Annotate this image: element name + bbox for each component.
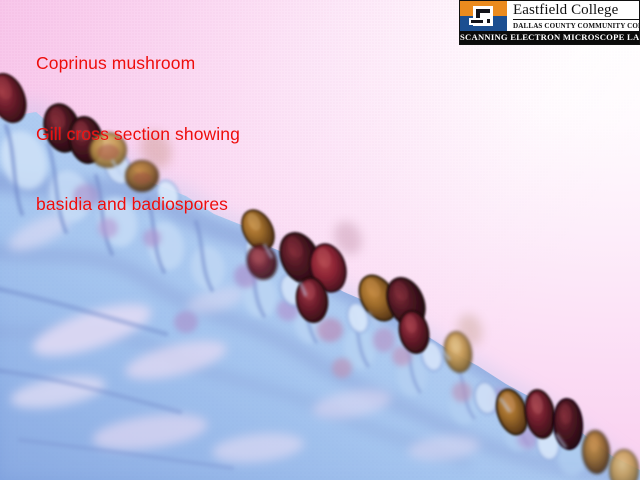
slide-canvas: Coprinus mushroom Gill cross section sho… bbox=[0, 0, 640, 480]
logo-lab-banner: SCANNING ELECTRON MICROSCOPE LAB bbox=[460, 31, 639, 44]
caption-line-3: basidia and badiospores bbox=[36, 193, 240, 217]
logo-top-row: Eastfield College DALLAS COUNTY COMMUNIT… bbox=[460, 1, 639, 31]
eastfield-e-mark-icon bbox=[460, 1, 507, 31]
slide-caption: Coprinus mushroom Gill cross section sho… bbox=[36, 5, 240, 264]
logo-divider bbox=[513, 19, 640, 20]
e-glyph-bar-icon bbox=[469, 18, 487, 25]
logo-institution-name: Eastfield College bbox=[513, 2, 640, 19]
logo-district-name: DALLAS COUNTY COMMUNITY COLLEGE DISTRICT bbox=[513, 22, 640, 31]
logo-wordmark: Eastfield College DALLAS COUNTY COMMUNIT… bbox=[507, 1, 640, 31]
caption-line-1: Coprinus mushroom bbox=[36, 52, 240, 76]
caption-line-2: Gill cross section showing bbox=[36, 123, 240, 147]
basidiospore bbox=[610, 450, 638, 480]
eastfield-college-logo: Eastfield College DALLAS COUNTY COMMUNIT… bbox=[459, 0, 640, 45]
